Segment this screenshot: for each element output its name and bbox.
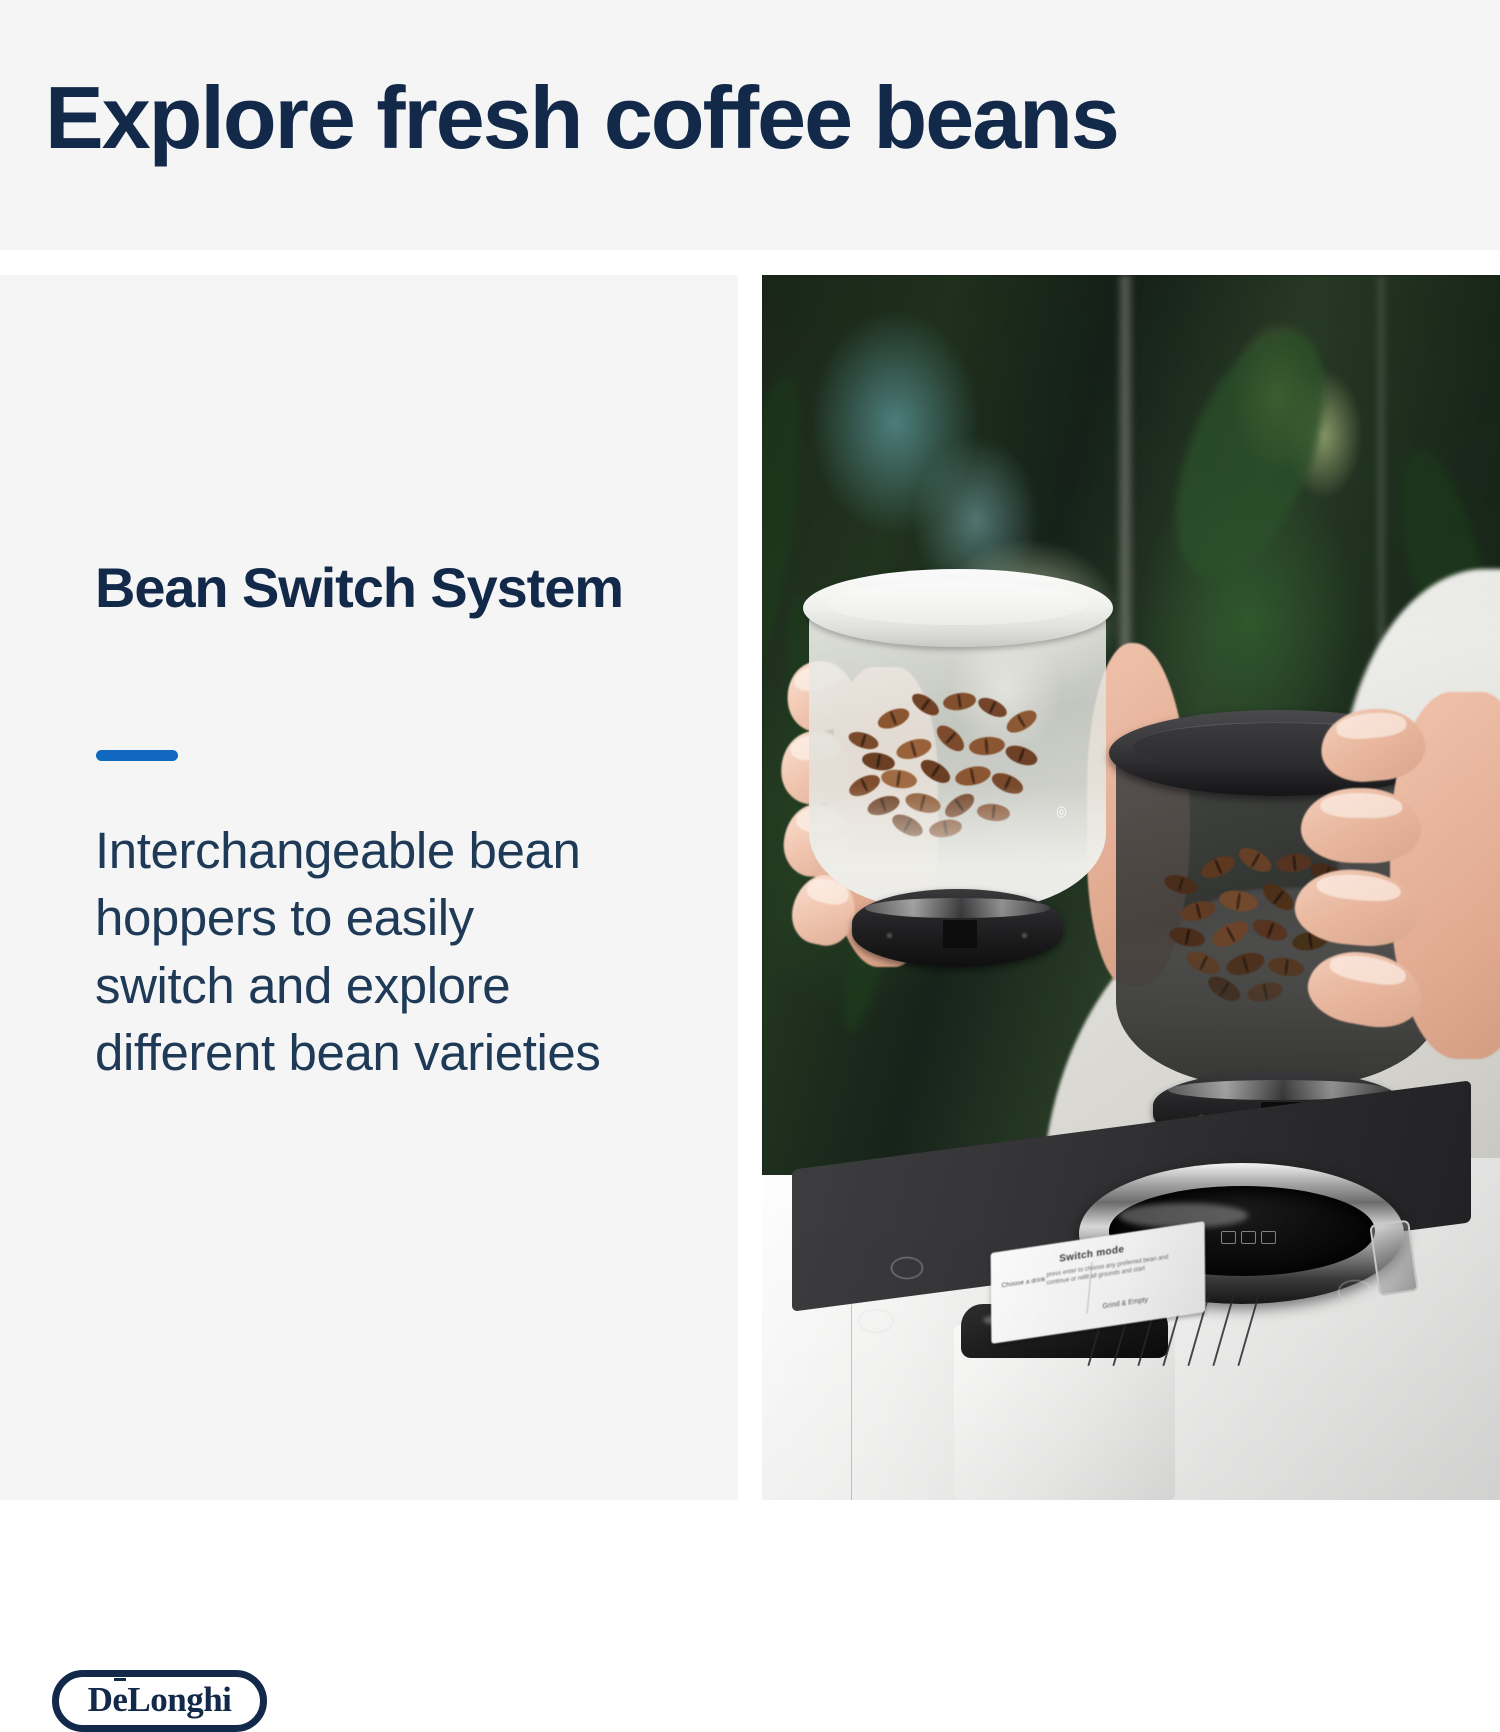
fingernail — [1328, 951, 1408, 989]
touch-button-coffee-icon[interactable] — [858, 1309, 894, 1333]
delonghi-logo: DeLonghi — [52, 1670, 267, 1732]
bean-hopper-white-lid[interactable]: ◎ — [803, 569, 1113, 924]
vent-slot — [1237, 1292, 1260, 1366]
coffee-bean — [942, 691, 977, 712]
banner-content-gutter — [0, 250, 1500, 275]
coffee-bean — [1235, 843, 1276, 877]
collar-screw — [1021, 932, 1028, 939]
machine-panel-seam — [851, 1300, 852, 1500]
coffee-bean — [932, 721, 968, 756]
coffee-bean — [1217, 888, 1259, 914]
coffee-bean — [975, 694, 1009, 721]
page-title: Explore fresh coffee beans — [45, 70, 1118, 165]
hopper-base-collar — [852, 889, 1063, 967]
hopper-brand-mark: ◎ — [1056, 802, 1066, 821]
no-ground-coffee-icon — [1261, 1231, 1276, 1244]
finger — [1302, 943, 1426, 1034]
feature-heading: Bean Switch System — [95, 556, 655, 621]
switch-mode-left-option: Choose a drink — [1001, 1275, 1045, 1289]
coffee-bean — [1003, 706, 1040, 737]
delonghi-logo-text: DeLonghi — [88, 1680, 232, 1720]
collar-locking-tab — [943, 920, 977, 948]
coffee-bean — [1003, 742, 1040, 769]
coffee-bean — [918, 756, 955, 788]
top-banner: Explore fresh coffee beans — [0, 0, 1500, 250]
touch-button-milk-icon[interactable] — [1312, 1346, 1348, 1370]
touch-button-settings-icon[interactable] — [1338, 1280, 1372, 1303]
fingernail — [1315, 871, 1401, 904]
finger — [1318, 705, 1428, 786]
finger — [1301, 787, 1422, 865]
switch-mode-right-option: Grind & Empty — [1102, 1296, 1148, 1310]
coffee-bean — [969, 735, 1006, 756]
coffee-bean — [1178, 898, 1218, 925]
feature-text-panel: Bean Switch System Interchangeable bean … — [0, 275, 738, 1500]
grinder-warning-icons — [1190, 1222, 1307, 1253]
accent-divider — [96, 750, 178, 761]
coffee-bean — [875, 704, 912, 732]
feature-description: Interchangeable bean hoppers to easily s… — [95, 817, 615, 1086]
collar-screw — [886, 932, 893, 939]
right-hand-fingers — [1279, 716, 1441, 1059]
hopper-lid-white[interactable] — [803, 569, 1113, 647]
coffee-bean — [1168, 925, 1208, 951]
fingernail — [1335, 710, 1408, 741]
hopper-body: ◎ — [809, 612, 1107, 910]
coffee-bean — [908, 689, 942, 719]
coffee-bean — [846, 729, 880, 753]
fingernail — [1321, 792, 1403, 819]
no-hand-icon — [1241, 1231, 1256, 1244]
coffee-bean — [1162, 872, 1199, 897]
vent-slot — [1212, 1292, 1235, 1366]
product-photo: ◎ — [762, 275, 1500, 1500]
finger — [1292, 865, 1421, 951]
coffee-bean — [1198, 851, 1239, 883]
no-water-icon — [1221, 1231, 1236, 1244]
